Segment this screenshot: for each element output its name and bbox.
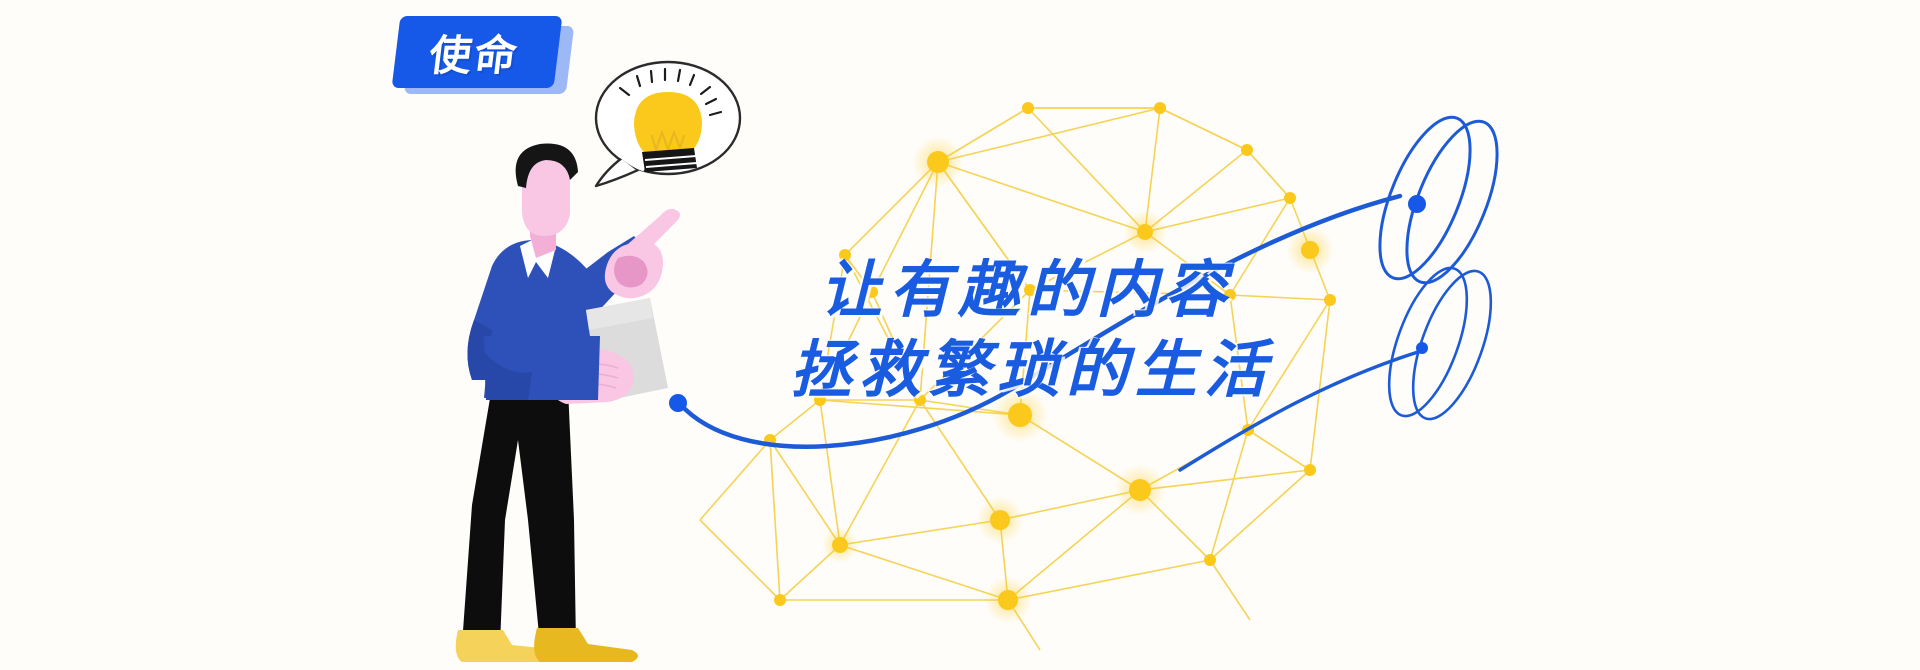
- background-plate: [0, 0, 1920, 670]
- mission-banner: 使命 让有趣的内容 拯救繁琐的生活: [0, 0, 1920, 670]
- orbit-center-dot-lower: [1416, 342, 1428, 354]
- banner-illustration-layer: [0, 0, 1920, 670]
- mission-badge-label: 使命: [388, 16, 563, 88]
- orbit-center-dot-upper: [1408, 195, 1426, 213]
- mission-badge[interactable]: 使命: [392, 12, 578, 98]
- blue-curve-endpoint-dot: [669, 394, 687, 412]
- lightbulb-base: [642, 148, 697, 172]
